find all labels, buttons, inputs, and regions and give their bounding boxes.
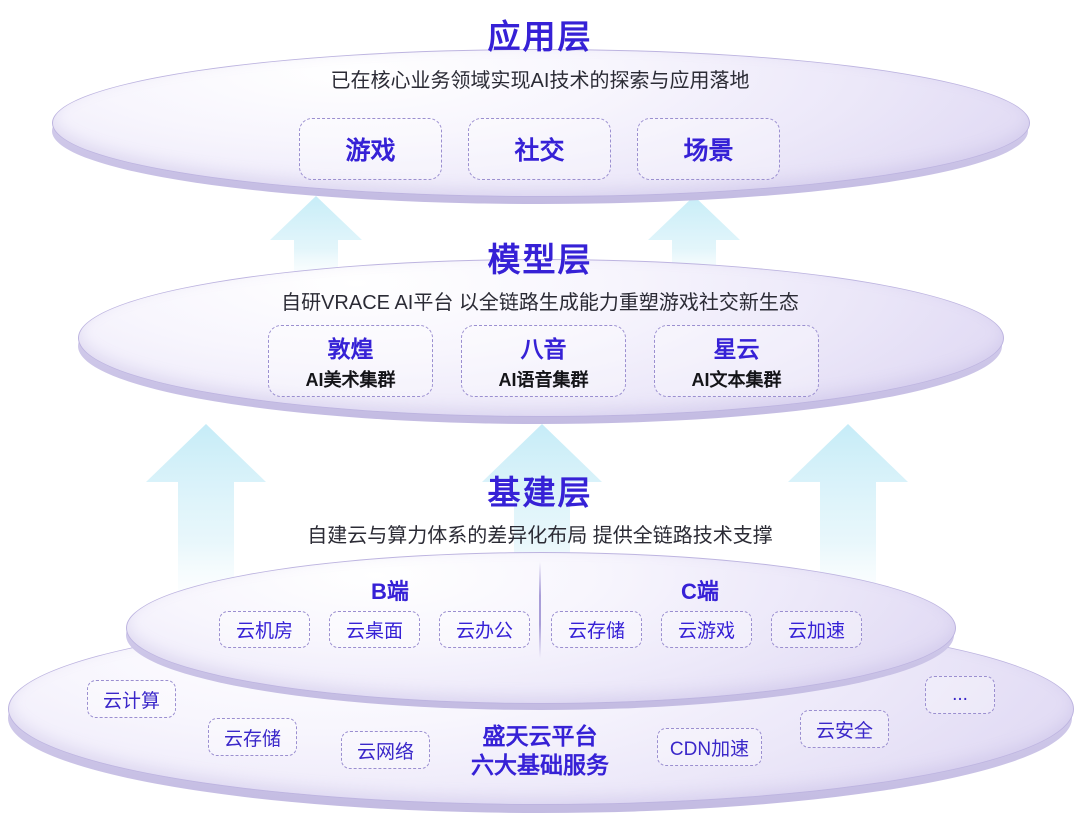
application-item-2-label: 场景 — [683, 131, 733, 167]
model-item-2-sub: AI文本集群 — [692, 366, 782, 392]
infra-c-item-2-label: 云加速 — [788, 616, 845, 643]
infra-c-item-0[interactable]: 云存储 — [551, 611, 642, 648]
platform-service-4-label: 云安全 — [816, 716, 873, 743]
infra-b-item-0[interactable]: 云机房 — [219, 611, 310, 648]
model-item-1-sub: AI语音集群 — [499, 366, 589, 392]
platform-brand-line1: 盛天云平台 — [430, 722, 650, 751]
platform-service-0[interactable]: 云计算 — [87, 680, 176, 718]
model-item-0-title: 敦煌 — [328, 330, 374, 364]
infra-c-item-1-label: 云游戏 — [678, 616, 735, 643]
platform-service-1-label: 云存储 — [224, 724, 281, 751]
infra-b-item-1-label: 云桌面 — [346, 616, 403, 643]
bc-divider — [539, 562, 541, 658]
group-label-b: B端 — [310, 574, 470, 606]
infra-b-item-2-label: 云办公 — [456, 616, 513, 643]
platform-service-5[interactable]: ... — [925, 676, 995, 714]
diagram-canvas: 基建层 自建云与算力体系的差异化布局 提供全链路技术支撑 B端 C端 云机房 云… — [0, 0, 1080, 823]
infra-c-item-0-label: 云存储 — [568, 616, 625, 643]
application-item-2[interactable]: 场景 — [637, 118, 780, 180]
application-item-1-label: 社交 — [514, 131, 564, 167]
platform-service-1[interactable]: 云存储 — [208, 718, 297, 756]
model-item-1[interactable]: 八音 AI语音集群 — [461, 325, 626, 397]
application-item-1[interactable]: 社交 — [468, 118, 611, 180]
layer-title-infrastructure: 基建层 — [0, 466, 1080, 514]
model-item-1-title: 八音 — [521, 330, 567, 364]
layer-title-application: 应用层 — [0, 10, 1080, 58]
platform-service-3-label: CDN加速 — [670, 734, 749, 761]
infra-b-item-0-label: 云机房 — [236, 616, 293, 643]
infra-b-item-1[interactable]: 云桌面 — [329, 611, 420, 648]
platform-service-2[interactable]: 云网络 — [341, 731, 430, 769]
platform-service-2-label: 云网络 — [357, 737, 414, 764]
platform-service-0-label: 云计算 — [103, 686, 160, 713]
model-item-2[interactable]: 星云 AI文本集群 — [654, 325, 819, 397]
layer-title-model: 模型层 — [0, 233, 1080, 281]
platform-service-3[interactable]: CDN加速 — [657, 728, 762, 766]
layer-subtitle-application: 已在核心业务领域实现AI技术的探索与应用落地 — [0, 64, 1080, 93]
application-item-0[interactable]: 游戏 — [299, 118, 442, 180]
platform-brand: 盛天云平台 六大基础服务 — [430, 722, 650, 781]
infra-b-item-2[interactable]: 云办公 — [439, 611, 530, 648]
model-item-0[interactable]: 敦煌 AI美术集群 — [268, 325, 433, 397]
infra-c-item-1[interactable]: 云游戏 — [661, 611, 752, 648]
infra-c-item-2[interactable]: 云加速 — [771, 611, 862, 648]
layer-subtitle-infrastructure: 自建云与算力体系的差异化布局 提供全链路技术支撑 — [0, 519, 1080, 548]
platform-service-4[interactable]: 云安全 — [800, 710, 889, 748]
application-item-0-label: 游戏 — [345, 131, 395, 167]
model-item-0-sub: AI美术集群 — [306, 366, 396, 392]
platform-service-5-label: ... — [952, 684, 968, 706]
model-item-2-title: 星云 — [714, 330, 760, 364]
platform-brand-line2: 六大基础服务 — [430, 751, 650, 780]
layer-subtitle-model: 自研VRACE AI平台 以全链路生成能力重塑游戏社交新生态 — [0, 286, 1080, 315]
group-label-c: C端 — [620, 574, 780, 606]
